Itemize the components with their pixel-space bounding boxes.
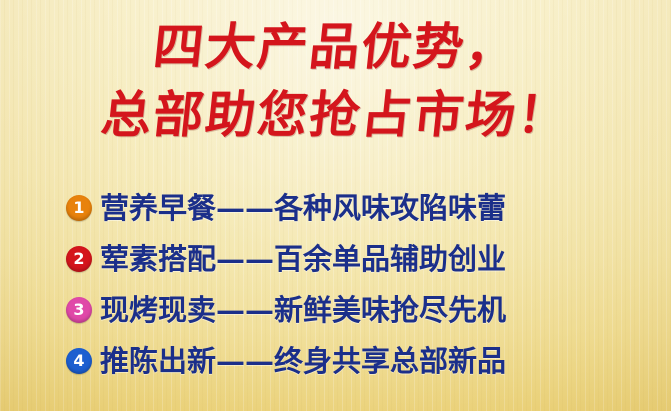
bullet-list: 1 营养早餐——各种风味攻陷味蕾 2 荤素搭配——百余单品辅助创业 3 现烤现卖…	[0, 182, 671, 386]
bullet-number-badge-2: 2	[66, 246, 92, 272]
list-item: 1 营养早餐——各种风味攻陷味蕾	[66, 182, 609, 233]
list-item: 3 现烤现卖——新鲜美味抢尽先机	[66, 284, 609, 335]
bullet-number-badge-4: 4	[66, 348, 92, 374]
poster-content: 四大产品优势， 总部助您抢占市场！ 1 营养早餐——各种风味攻陷味蕾 2 荤素搭…	[0, 0, 671, 411]
bullet-text-2: 荤素搭配——百余单品辅助创业	[100, 242, 609, 276]
list-item: 4 推陈出新——终身共享总部新品	[66, 335, 609, 386]
bullet-number-badge-3: 3	[66, 297, 92, 323]
bullet-text-1: 营养早餐——各种风味攻陷味蕾	[100, 191, 609, 225]
promo-poster: 四大产品优势， 总部助您抢占市场！ 1 营养早餐——各种风味攻陷味蕾 2 荤素搭…	[0, 0, 671, 411]
headline-line-1: 四大产品优势，	[0, 18, 671, 76]
list-item: 2 荤素搭配——百余单品辅助创业	[66, 233, 609, 284]
headline-line-2: 总部助您抢占市场！	[0, 86, 671, 144]
bullet-number-badge-1: 1	[66, 195, 92, 221]
bullet-text-4: 推陈出新——终身共享总部新品	[100, 344, 609, 378]
bullet-text-3: 现烤现卖——新鲜美味抢尽先机	[100, 293, 609, 327]
